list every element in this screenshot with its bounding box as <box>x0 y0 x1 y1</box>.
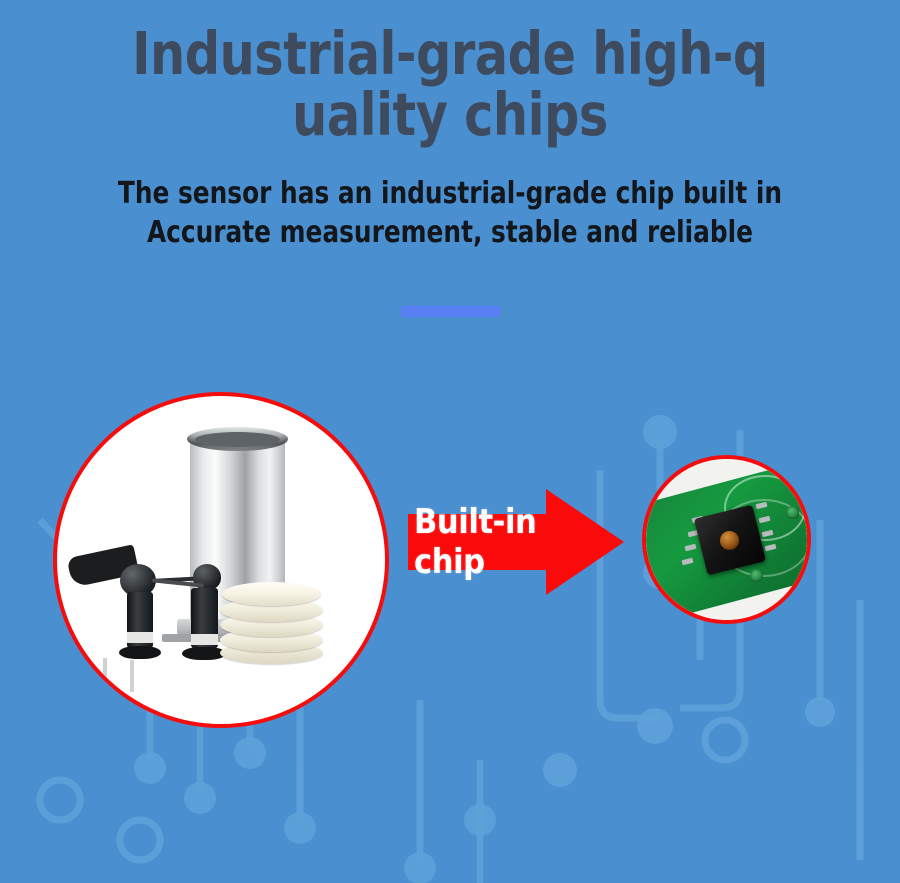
built-in-chip-arrow: Built-in chip <box>408 489 624 595</box>
wind-vane-foot <box>119 646 161 659</box>
pcb-via-pad <box>786 506 799 519</box>
wind-vane-label <box>127 632 153 643</box>
radiation-shield <box>220 582 323 666</box>
promo-banner: Industrial-grade high-q uality chips The… <box>0 0 900 883</box>
page-title-line-1: Industrial-grade high-q <box>132 19 768 88</box>
page-title-line-2: uality chips <box>32 85 869 146</box>
rain-gauge-opening <box>195 432 280 447</box>
sensor-chip-aperture <box>720 531 739 550</box>
sensor-probe <box>130 660 134 692</box>
accent-divider-bar <box>401 306 500 317</box>
product-photo-chip <box>642 455 811 624</box>
arrow-label: Built-in chip <box>408 489 594 595</box>
header: Industrial-grade high-q uality chips The… <box>0 0 900 252</box>
product-photo-weather-station <box>53 392 389 728</box>
anemometer-label <box>191 634 218 645</box>
page-subtitle-line-2: Accurate measurement, stable and reliabl… <box>147 215 753 250</box>
shield-disc-top <box>222 582 321 606</box>
pcb-illustration <box>646 459 807 620</box>
weather-station-illustration <box>57 396 385 724</box>
sensor-probe <box>79 660 83 694</box>
sensor-probe <box>103 658 107 682</box>
page-subtitle: The sensor has an industrial-grade chip … <box>36 146 864 252</box>
page-subtitle-line-1: The sensor has an industrial-grade chip … <box>118 176 782 211</box>
page-title: Industrial-grade high-q uality chips <box>32 0 869 146</box>
pcb-via-pad <box>750 569 763 582</box>
